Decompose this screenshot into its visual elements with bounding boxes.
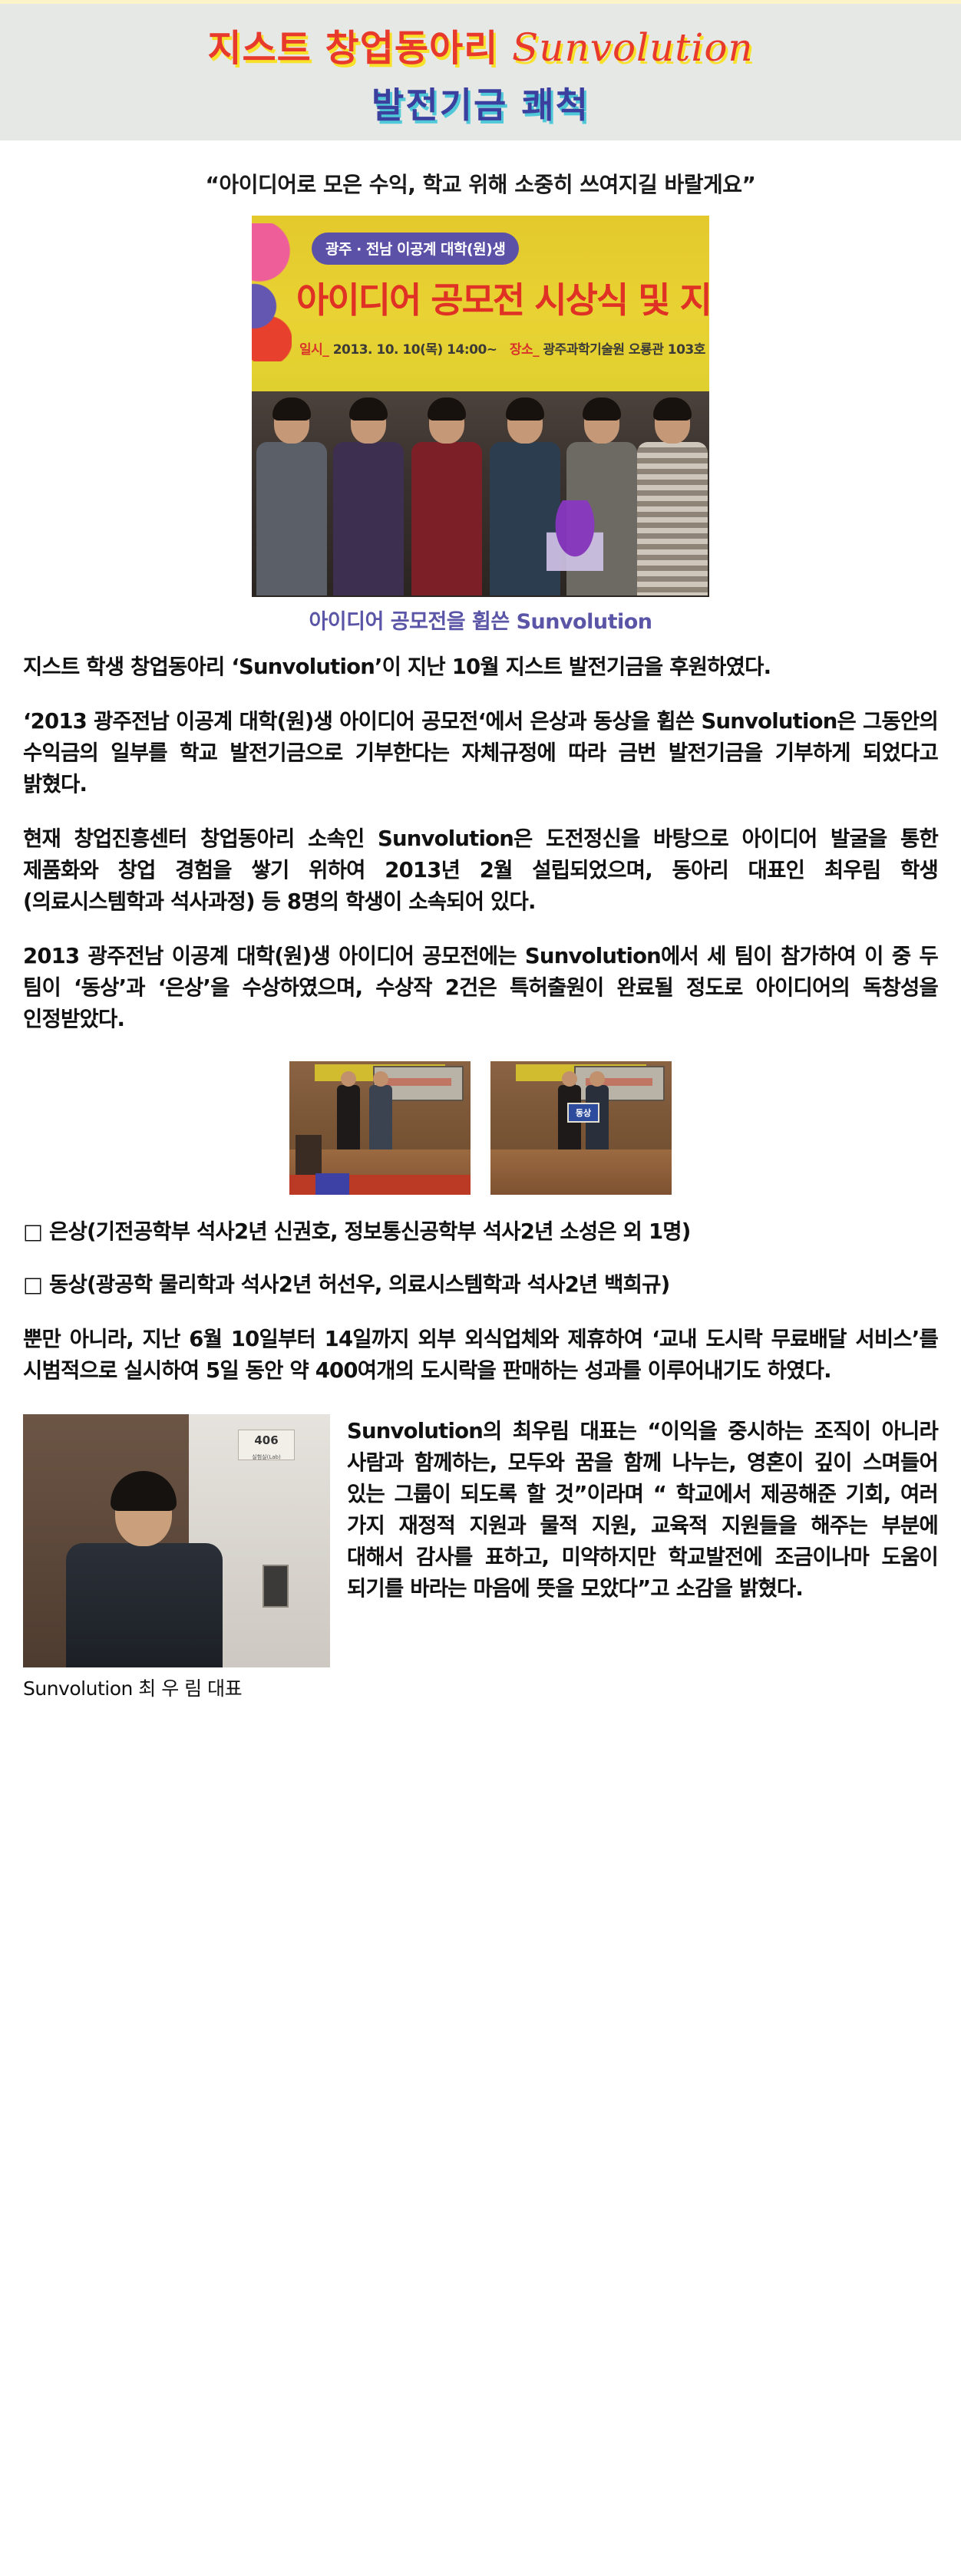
hero-photo-banner: 광주 · 전남 이공계 대학(원)생 아이디어 공모전 시상식 및 지 일시_ …: [252, 216, 709, 399]
person-figure: [255, 391, 329, 597]
page-header-banner: 지스트 창업동아리 Sunvolution 발전기금 쾌척: [0, 0, 961, 140]
lede-quote: “아이디어로 모은 수익, 학교 위해 소중히 쓰여지길 바랄게요”: [0, 168, 961, 199]
banner-time-label: 일시_: [299, 342, 329, 358]
door-number-plate: 406 실험실(Lab): [238, 1430, 295, 1460]
article-paragraph: ‘2013 광주전남 이공계 대학(원)생 아이디어 공모전‘에서 은상과 동상…: [23, 706, 938, 800]
banner-decoration-icon: [252, 223, 292, 361]
feature-text-column: Sunvolution의 최우림 대표는 “이익을 중시하는 조직이 아니라 사…: [347, 1414, 938, 1605]
access-panel-icon: [263, 1565, 289, 1608]
feature-block: 406 실험실(Lab) Sunvolution 최 우 림 대표 Sunvol…: [0, 1414, 961, 1701]
person-figure: [332, 391, 405, 597]
page-body: “아이디어로 모은 수익, 학교 위해 소중히 쓰여지길 바랄게요” 광주 · …: [0, 168, 961, 1701]
feature-photo: 406 실험실(Lab): [23, 1414, 330, 1667]
header-title-brand: Sunvolution: [512, 25, 754, 70]
feature-photo-column: 406 실험실(Lab) Sunvolution 최 우 림 대표: [23, 1414, 330, 1701]
bouquet-icon: [547, 500, 603, 571]
banner-place-value: 광주과학기술원 오룡관 103호: [543, 342, 705, 358]
banner-place-label: 장소_: [510, 342, 539, 358]
hero-photo-caption: 아이디어 공모전을 휩쓴 Sunvolution: [0, 605, 961, 635]
door-sublabel: 실험실(Lab): [239, 1449, 294, 1466]
hero-photo-group: [252, 391, 709, 597]
article-paragraph: 현재 창업진흥센터 창업동아리 소속인 Sunvolution은 도전정신을 바…: [23, 823, 938, 918]
award-list-item-bronze: □ 동상(광공학 물리학과 석사2년 허선우, 의료시스템학과 석사2년 백희규…: [23, 1269, 938, 1301]
award-photo: [289, 1061, 471, 1195]
header-title-korean: 지스트 창업동아리: [207, 27, 512, 70]
feature-photo-caption: Sunvolution 최 우 림 대표: [23, 1674, 330, 1701]
door-number: 406: [254, 1433, 278, 1447]
hero-photo-wrapper: 광주 · 전남 이공계 대학(원)생 아이디어 공모전 시상식 및 지 일시_ …: [0, 216, 961, 597]
banner-headline-text: 아이디어 공모전 시상식 및 지: [296, 272, 709, 323]
person-figure: [410, 391, 484, 597]
article-paragraph-after-list: 뿐만 아니라, 지난 6월 10일부터 14일까지 외부 외식업체와 제휴하여 …: [23, 1324, 938, 1387]
award-photo: 동상: [490, 1061, 672, 1195]
article-body: 지스트 학생 창업동아리 ‘Sunvolution’이 지난 10월 지스트 발…: [0, 651, 961, 1035]
chair-icon: [315, 1173, 349, 1195]
award-photo-pair: 동상: [0, 1061, 961, 1195]
award-plaque: 동상: [567, 1103, 599, 1123]
article-paragraph: 2013 광주전남 이공계 대학(원)생 아이디어 공모전에는 Sunvolut…: [23, 941, 938, 1035]
header-title-line-1: 지스트 창업동아리 Sunvolution: [0, 18, 961, 71]
person-figure: [636, 391, 709, 597]
banner-pill-text: 광주 · 전남 이공계 대학(원)생: [312, 233, 519, 265]
banner-time-value: 2013. 10. 10(목) 14:00~: [333, 342, 497, 358]
person-figure: [337, 1085, 360, 1149]
feature-quote-paragraph: Sunvolution의 최우림 대표는 “이익을 중시하는 조직이 아니라 사…: [347, 1416, 938, 1605]
person-figure: [66, 1543, 223, 1667]
hero-photo: 광주 · 전남 이공계 대학(원)생 아이디어 공모전 시상식 및 지 일시_ …: [252, 216, 709, 597]
header-title-line-2: 발전기금 쾌척: [0, 78, 961, 128]
award-list-section: □ 은상(기전공학부 석사2년 신권호, 정보통신공학부 석사2년 소성은 외 …: [0, 1216, 961, 1387]
award-list-item-silver: □ 은상(기전공학부 석사2년 신권호, 정보통신공학부 석사2년 소성은 외 …: [23, 1216, 938, 1248]
person-figure: [369, 1085, 392, 1149]
banner-subline: 일시_ 2013. 10. 10(목) 14:00~ 장소_ 광주과학기술원 오…: [299, 338, 709, 358]
article-paragraph: 지스트 학생 창업동아리 ‘Sunvolution’이 지난 10월 지스트 발…: [23, 651, 938, 683]
